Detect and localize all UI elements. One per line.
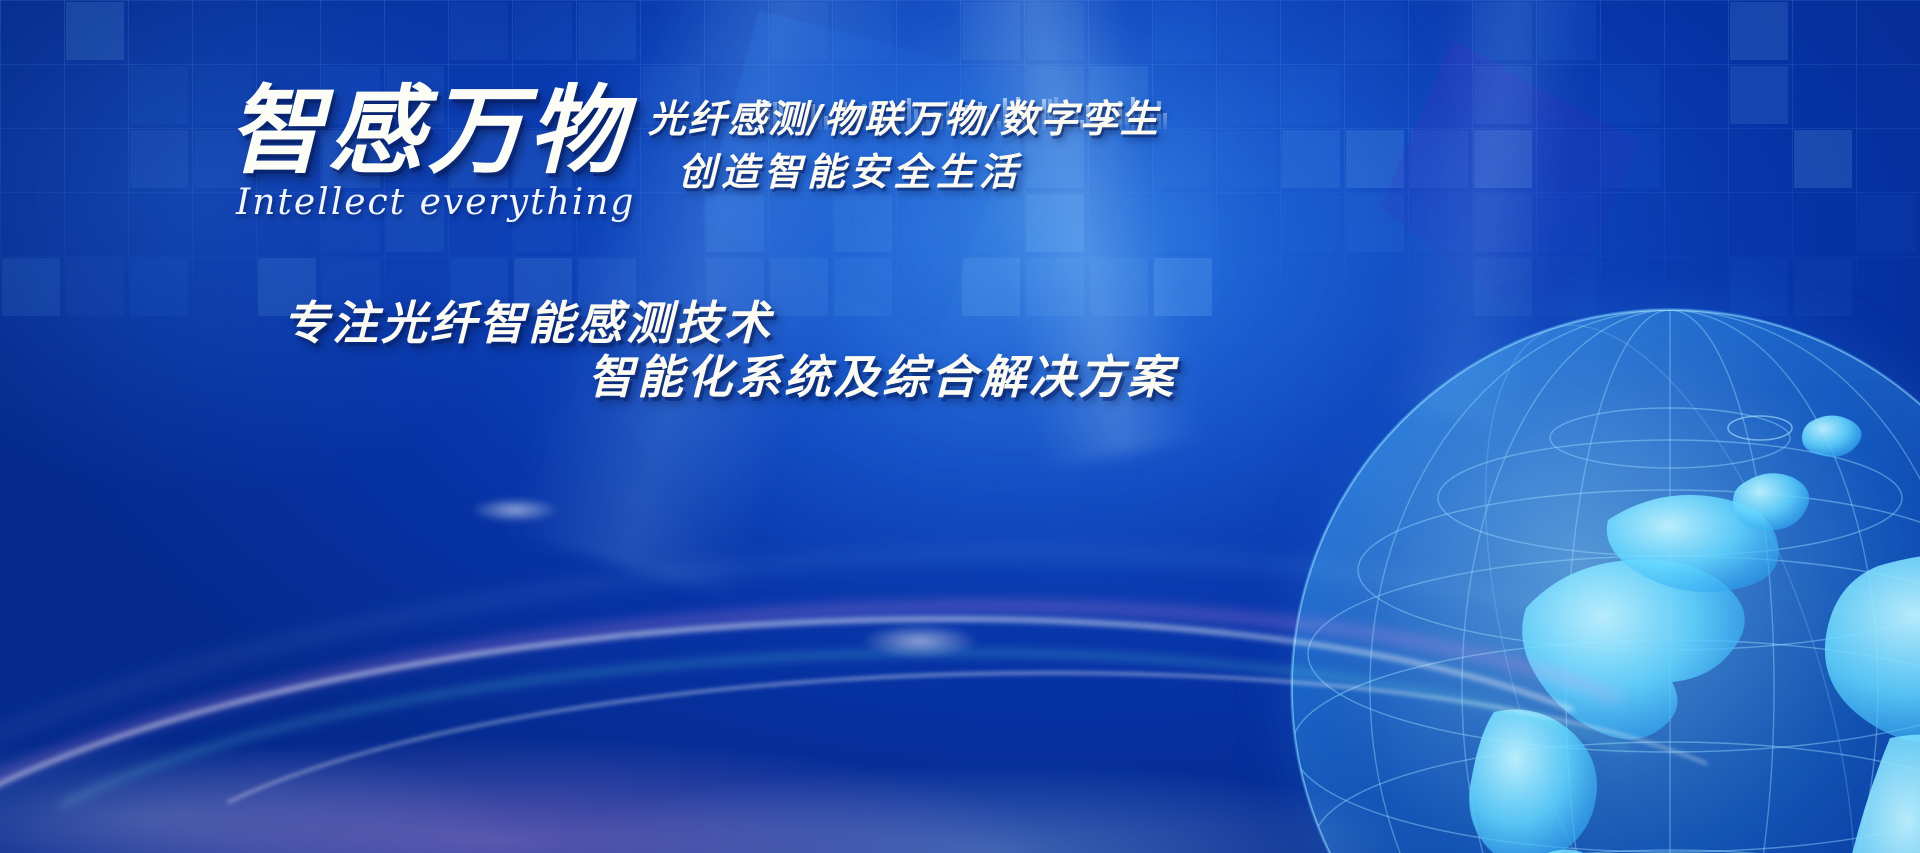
promotional-banner: 智感万物 Intellect everything 光纤感测/物联万物/数字孪生…: [0, 0, 1920, 853]
tagline-secondary: 创造智能安全生活: [678, 141, 1022, 196]
headline-chinese: 智感万物: [228, 83, 628, 179]
banner-text-content: 智感万物 Intellect everything 光纤感测/物联万物/数字孪生…: [0, 0, 1920, 853]
slogan-line-2: 智能化系统及综合解决方案: [588, 341, 1176, 407]
headline-english: Intellect everything: [236, 182, 635, 223]
tagline-primary: 光纤感测/物联万物/数字孪生: [648, 88, 1160, 143]
